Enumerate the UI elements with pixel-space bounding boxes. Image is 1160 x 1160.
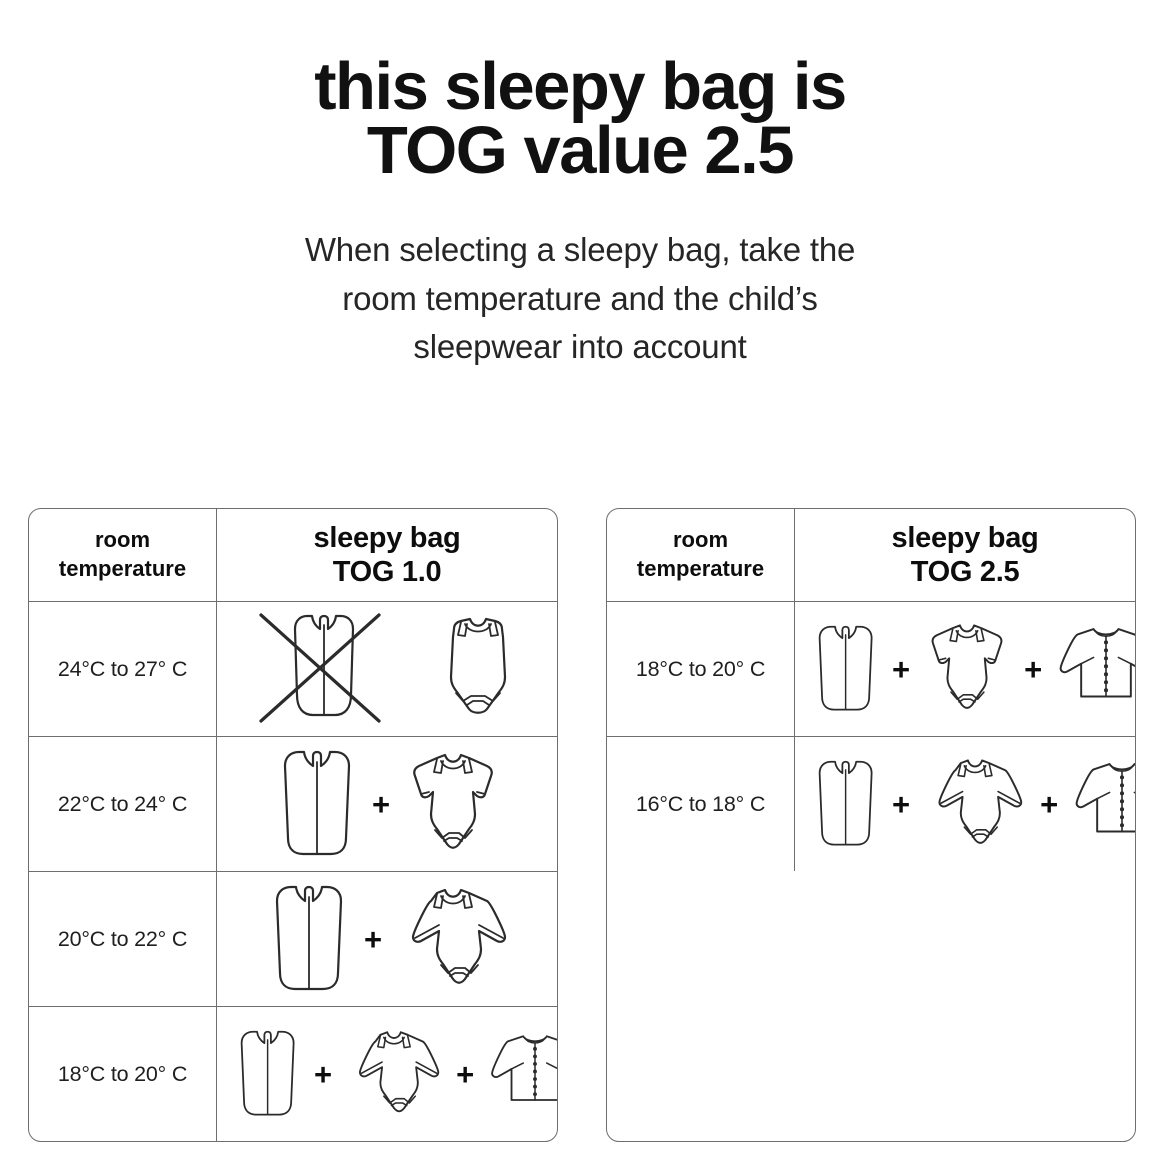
table-header-row: room temperature sleepy bag TOG 2.5 <box>607 509 1135 601</box>
row-temperature: 16°C to 18° C <box>607 737 795 871</box>
header-sleepy-bag-line-1: sleepy bag <box>314 521 461 555</box>
row-temperature: 22°C to 24° C <box>29 737 217 871</box>
tog-table-2-5: room temperature sleepy bag TOG 2.5 18°C… <box>606 508 1136 1142</box>
table-row: 18°C to 20° C + <box>607 601 1135 736</box>
header-sleepy-bag-line-2: TOG 1.0 <box>333 555 442 589</box>
table-row: 24°C to 27° C <box>29 601 557 736</box>
header-room-temperature-line-2: temperature <box>59 556 186 581</box>
tog-table-1-0: room temperature sleepy bag TOG 1.0 24°C… <box>28 508 558 1142</box>
sleepy-bag-icon <box>805 756 883 852</box>
row-temperature: 18°C to 20° C <box>29 1007 217 1141</box>
plus-sign: + <box>889 789 913 820</box>
header-sleepy-bag-tog: sleepy bag TOG 1.0 <box>217 509 557 601</box>
bodysuit-short-sleeve-icon <box>399 750 507 858</box>
bodysuit-long-sleeve-icon <box>919 756 1031 852</box>
cardigan-icon <box>483 1029 558 1119</box>
row-temperature: 24°C to 27° C <box>29 602 217 736</box>
row-garments: + + <box>795 737 1136 871</box>
bodysuit-long-sleeve-icon <box>391 885 515 993</box>
cardigan-icon <box>1051 622 1136 716</box>
sleepy-bag-icon <box>259 883 355 995</box>
plus-sign: + <box>1021 654 1045 685</box>
sleepy-bag-icon <box>267 748 363 860</box>
tog-tables-container: room temperature sleepy bag TOG 1.0 24°C… <box>0 508 1160 1142</box>
plus-sign: + <box>889 654 913 685</box>
table-header-row: room temperature sleepy bag TOG 1.0 <box>29 509 557 601</box>
page-title-line-2: TOG value 2.5 <box>0 119 1160 183</box>
bodysuit-sleeveless-icon <box>437 615 519 723</box>
bodysuit-long-sleeve-icon <box>341 1028 447 1120</box>
row-garments: + + <box>795 602 1136 736</box>
page-subtitle-line-1: When selecting a sleepy bag, take the <box>0 226 1160 275</box>
header-room-temperature-line-2: temperature <box>637 556 764 581</box>
table-row: 20°C to 22° C + <box>29 871 557 1006</box>
page-subtitle: When selecting a sleepy bag, take the ro… <box>0 226 1160 372</box>
page-title: this sleepy bag is TOG value 2.5 <box>0 0 1160 182</box>
sleepy-bag-icon <box>805 621 883 717</box>
header-room-temperature: room temperature <box>607 509 795 601</box>
sleepy-bag-crossed-out-icon <box>255 607 385 731</box>
plus-sign: + <box>361 924 385 955</box>
cardigan-icon <box>1067 757 1136 851</box>
page-subtitle-line-2: room temperature and the child’s <box>0 275 1160 324</box>
row-temperature: 18°C to 20° C <box>607 602 795 736</box>
table-row: 22°C to 24° C + <box>29 736 557 871</box>
plus-sign: + <box>311 1059 335 1090</box>
plus-sign: + <box>1037 789 1061 820</box>
table-row: 16°C to 18° C + <box>607 736 1135 871</box>
row-garments: + <box>217 737 557 871</box>
bodysuit-short-sleeve-icon <box>919 621 1015 717</box>
plus-sign: + <box>369 789 393 820</box>
header-room-temperature: room temperature <box>29 509 217 601</box>
header-sleepy-bag-line-2: TOG 2.5 <box>911 555 1020 589</box>
page-subtitle-line-3: sleepwear into account <box>0 323 1160 372</box>
header-sleepy-bag-line-1: sleepy bag <box>892 521 1039 555</box>
row-garments: + + <box>217 1007 558 1141</box>
row-garments <box>217 602 557 736</box>
page-title-line-1: this sleepy bag is <box>0 55 1160 119</box>
row-temperature: 20°C to 22° C <box>29 872 217 1006</box>
sleepy-bag-icon <box>227 1026 305 1122</box>
plus-sign: + <box>453 1059 477 1090</box>
row-garments: + <box>217 872 557 1006</box>
table-row: 18°C to 20° C + <box>29 1006 557 1141</box>
header-room-temperature-line-1: room <box>673 527 728 552</box>
header-sleepy-bag-tog: sleepy bag TOG 2.5 <box>795 509 1135 601</box>
header-room-temperature-line-1: room <box>95 527 150 552</box>
